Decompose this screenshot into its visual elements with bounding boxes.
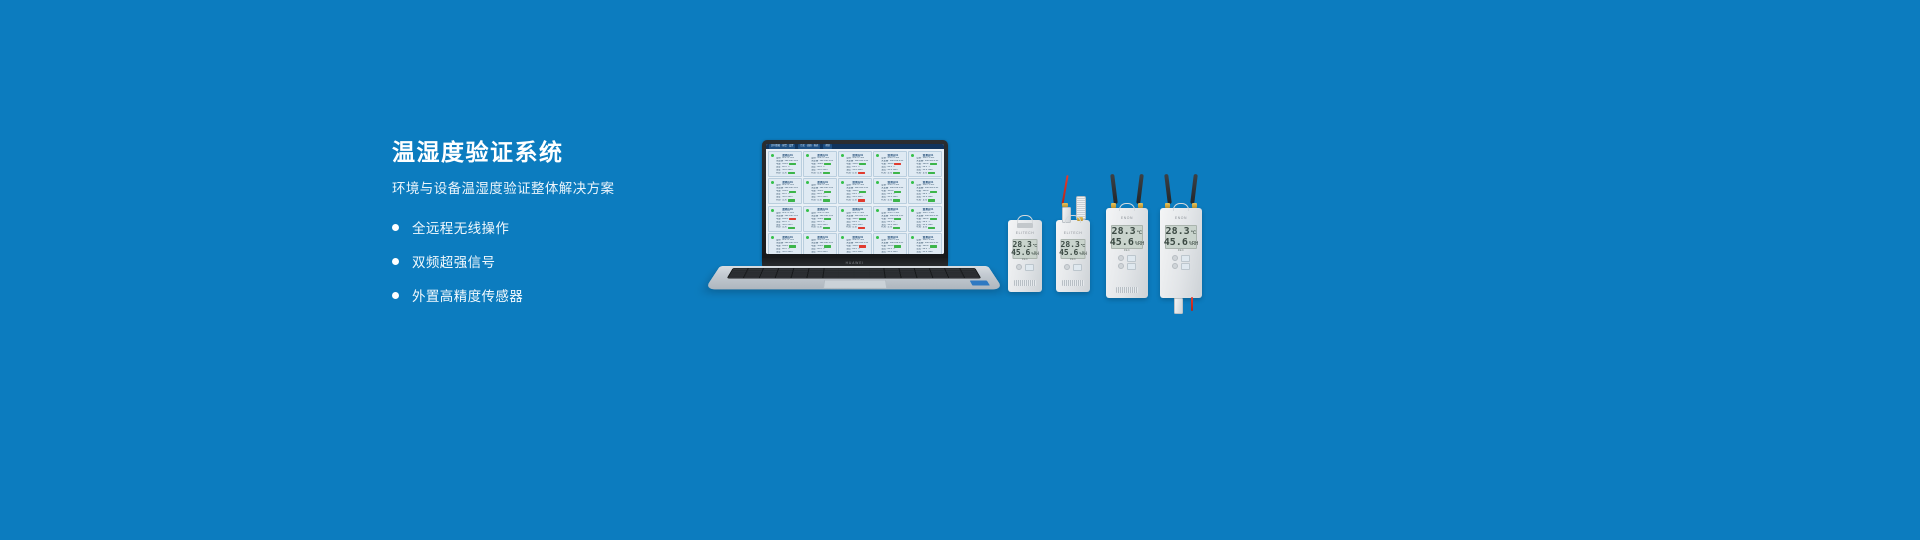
status-indicator-icon	[876, 236, 879, 239]
hanger-loop-icon	[1173, 203, 1189, 211]
monitor-card-row-label: 状态:	[811, 199, 816, 202]
monitor-card[interactable]: 监测点01设备:WS-T1 501采集器:192.168.1.21电量:100%…	[838, 178, 872, 204]
antenna-connector-left-icon	[1165, 203, 1170, 208]
status-indicator-icon	[771, 181, 774, 184]
monitor-card-row: 状态:正常	[846, 226, 869, 229]
monitor-card[interactable]: 监测点01设备:WS-T1 501采集器:192.168.1.21电量:100%…	[873, 233, 907, 254]
monitor-card-row-label: 状态:	[881, 199, 886, 202]
monitor-card-row: 状态:正常	[846, 199, 869, 202]
function-button[interactable]	[1127, 255, 1136, 262]
monitor-card-row-value: 正常	[782, 199, 787, 202]
keyboard-key[interactable]	[886, 276, 901, 277]
feature-list: 全远程无线操作 双频超强信号 外置高精度传感器	[392, 217, 722, 305]
monitor-card-row-value: 正常	[888, 226, 893, 229]
status-indicator-icon	[841, 236, 844, 239]
feature-label: 全远程无线操作	[412, 217, 509, 237]
status-badge	[930, 191, 937, 193]
monitor-card[interactable]: 监测点01设备:WS-T1 501采集器:192.168.1.21电量:100%…	[908, 151, 942, 177]
list-item: 双频超强信号	[392, 251, 722, 271]
menu-button[interactable]	[1118, 263, 1124, 269]
monitor-card[interactable]: 监测点01设备:WS-T1 501采集器:192.168.1.21电量:100%…	[768, 151, 802, 177]
monitor-card-row: 状态:正常	[916, 172, 939, 175]
speaker-grille-icon	[1116, 287, 1138, 293]
list-item: 外置高精度传感器	[392, 285, 722, 305]
monitor-card-row-label: 状态:	[846, 226, 851, 229]
monitor-card[interactable]: 监测点01设备:WS-T1 501采集器:192.168.1.21电量:100%…	[838, 233, 872, 254]
lcd-display: 28.3 ℃ 45.6 %RH REC	[1013, 239, 1038, 259]
keyboard-key[interactable]	[917, 276, 932, 277]
lcd-humidity-value: 45.6	[1164, 238, 1188, 249]
monitor-card-row-value: 正常	[782, 172, 787, 175]
monitor-card-row-value: 正常	[923, 199, 928, 202]
status-indicator-icon	[806, 209, 809, 212]
status-badge	[858, 199, 865, 201]
status-indicator-icon	[876, 209, 879, 212]
status-indicator-icon	[911, 181, 914, 184]
power-button[interactable]	[1118, 255, 1124, 261]
monitor-card[interactable]: 监测点01设备:WS-T1 501采集器:192.168.1.21电量:100%…	[768, 233, 802, 254]
monitor-card-row-value: 正常	[817, 172, 822, 175]
list-item: ELITECH 28.3 ℃ 45.6 %RH REC	[1008, 220, 1042, 292]
monitor-card-row-label: 状态:	[811, 226, 816, 229]
monitor-card[interactable]: 监测点01设备:WS-T1 501采集器:192.168.1.21电量:100%…	[873, 178, 907, 204]
status-indicator-icon	[841, 154, 844, 157]
status-indicator-icon	[876, 154, 879, 157]
status-badge	[858, 227, 865, 229]
monitor-card-row: 状态:正常	[811, 226, 834, 229]
lcd-status-label: REC	[1064, 258, 1083, 261]
bullet-dot-icon	[392, 224, 399, 231]
hanger-loop-icon	[1119, 203, 1135, 211]
monitor-card[interactable]: 监测点01设备:WS-T1 501采集器:192.168.1.21电量:100%…	[908, 206, 942, 232]
laptop-screen: 实时数据 · 报警 · 设置 历史 · 曲线 · 报表 帮助 监测点01设备:W…	[766, 144, 944, 254]
lcd-temperature-unit: ℃	[1033, 244, 1038, 248]
page-subtitle: 环境与设备温湿度验证整体解决方案	[392, 181, 722, 197]
status-indicator-icon	[841, 181, 844, 184]
lcd-temperature-row: 28.3 ℃	[1114, 227, 1140, 238]
lcd-status-label: REC	[1168, 249, 1194, 252]
keyboard-key[interactable]	[948, 276, 964, 277]
laptop-lid: 实时数据 · 报警 · 设置 历史 · 曲线 · 报表 帮助 监测点01设备:W…	[762, 140, 948, 262]
monitor-card-row: 状态:正常	[811, 172, 834, 175]
probe-shaft	[1174, 298, 1183, 314]
monitor-card[interactable]: 监测点01设备:WS-T1 501采集器:192.168.1.21电量:100%…	[873, 206, 907, 232]
status-badge	[859, 191, 866, 193]
lcd-display: 28.3 ℃ 45.6 %RH REC	[1111, 225, 1143, 249]
device-button-row[interactable]	[1008, 264, 1042, 271]
keyboard-key[interactable]	[839, 276, 854, 277]
status-badge	[788, 172, 795, 174]
monitor-card[interactable]: 监测点01设备:WS-T1 501采集器:192.168.1.21电量:100%…	[838, 151, 872, 177]
status-badge	[788, 227, 795, 229]
lcd-status-label: REC	[1016, 258, 1035, 261]
monitor-card[interactable]: 监测点01设备:WS-T1 501采集器:192.168.1.21电量:100%…	[838, 206, 872, 232]
status-badge	[824, 191, 831, 193]
lcd-display: 28.3 ℃ 45.6 %RH REC	[1061, 239, 1086, 259]
lcd-humidity-row: 45.6 %RH	[1064, 249, 1083, 257]
monitor-card[interactable]: 监测点01设备:WS-T1 501采集器:192.168.1.21电量:100%…	[803, 233, 837, 254]
keyboard-key[interactable]	[901, 276, 916, 277]
keyboard-key[interactable]	[964, 276, 980, 277]
status-badge	[894, 245, 901, 247]
lcd-humidity-unit: %RH	[1135, 242, 1144, 247]
monitor-card-row-value: 正常	[817, 199, 822, 202]
laptop-sticker	[970, 281, 990, 286]
enter-button[interactable]	[1127, 263, 1136, 270]
monitor-card[interactable]: 监测点01设备:WS-T1 501采集器:192.168.1.21电量:100%…	[908, 178, 942, 204]
list-item: ELITECH 28.3 ℃ 45.6 %RH REC	[1056, 220, 1090, 292]
lcd-humidity-row: 45.6 %RH	[1016, 249, 1035, 257]
hero-copy-block: 温湿度验证系统 环境与设备温湿度验证整体解决方案 全远程无线操作 双频超强信号 …	[392, 140, 722, 319]
keyboard-key[interactable]	[791, 276, 806, 277]
device-button-row[interactable]	[1160, 263, 1202, 270]
monitor-card-row-label: 状态:	[881, 226, 886, 229]
monitor-card-row-value: 正常	[923, 172, 928, 175]
monitor-card-row-label: 状态:	[776, 226, 781, 229]
monitor-card-row: 状态:正常	[916, 199, 939, 202]
laptop-touchpad[interactable]	[823, 280, 887, 289]
lcd-temperature-unit: ℃	[1137, 231, 1143, 236]
monitor-card-row: 状态:正常	[776, 172, 799, 175]
status-badge	[788, 199, 795, 201]
function-button[interactable]	[1025, 264, 1034, 271]
status-badge	[824, 245, 831, 247]
keyboard-key[interactable]	[854, 276, 869, 277]
status-badge	[789, 218, 796, 220]
laptop-keyboard[interactable]	[727, 268, 982, 279]
menu-button[interactable]	[1172, 263, 1178, 269]
lcd-humidity-unit: %RH	[1189, 242, 1198, 247]
lcd-display: 28.3 ℃ 45.6 %RH REC	[1165, 225, 1197, 249]
status-indicator-icon	[771, 154, 774, 157]
monitor-card-row-value: 正常	[923, 226, 928, 229]
lcd-temperature-value: 28.3	[1166, 227, 1190, 238]
keyboard-key[interactable]	[775, 276, 790, 277]
lcd-status-label: REC	[1114, 249, 1140, 252]
status-indicator-icon	[911, 236, 914, 239]
device-button-row[interactable]	[1160, 255, 1202, 262]
monitor-card[interactable]: 监测点01设备:WS-T1 501采集器:192.168.1.21电量:100%…	[768, 178, 802, 204]
device-button-row[interactable]	[1106, 263, 1148, 270]
keyboard-key[interactable]	[728, 276, 744, 277]
lcd-humidity-row: 45.6 %RH	[1168, 238, 1194, 249]
device-brand-label: ELITECH	[1008, 231, 1042, 235]
probe-cable	[1061, 175, 1068, 205]
monitor-card-row: 状态:正常	[846, 172, 869, 175]
laptop-base	[705, 266, 1004, 289]
page-title: 温湿度验证系统	[392, 140, 722, 165]
monitor-card[interactable]: 监测点01设备:WS-T1 501采集器:192.168.1.21电量:100%…	[908, 233, 942, 254]
monitor-card-row: 状态:正常	[776, 199, 799, 202]
monitor-card-row: 状态:正常	[811, 199, 834, 202]
bullet-dot-icon	[392, 292, 399, 299]
status-badge	[858, 172, 865, 174]
monitor-card[interactable]: 监测点01设备:WS-T1 501采集器:192.168.1.21电量:100%…	[803, 151, 837, 177]
monitor-card[interactable]: 监测点01设备:WS-T1 501采集器:192.168.1.21电量:100%…	[803, 178, 837, 204]
monitor-card[interactable]: 监测点01设备:WS-T1 501采集器:192.168.1.21电量:100%…	[803, 206, 837, 232]
antenna-connector-right-icon	[1138, 203, 1143, 208]
antenna-connector-right-icon	[1192, 203, 1197, 208]
monitor-card-row-label: 状态:	[811, 172, 816, 175]
monitor-card-row-value: 正常	[852, 172, 857, 175]
device-brand-label: ELITECH	[1056, 231, 1090, 235]
lcd-humidity-row: 45.6 %RH	[1114, 238, 1140, 249]
monitor-card-row-label: 状态:	[916, 226, 921, 229]
status-indicator-icon	[806, 154, 809, 157]
status-badge	[928, 172, 935, 174]
monitor-card-row-value: 正常	[782, 226, 787, 229]
status-indicator-icon	[771, 236, 774, 239]
monitor-card-row-value: 正常	[817, 226, 822, 229]
hanger-loop-icon	[1017, 215, 1033, 223]
status-badge	[824, 218, 831, 220]
power-button[interactable]	[1016, 264, 1022, 270]
list-item: 全远程无线操作	[392, 217, 722, 237]
lcd-humidity-unit: %RH	[1031, 252, 1039, 256]
speaker-grille-icon	[1014, 280, 1036, 286]
status-badge	[930, 245, 937, 247]
monitor-card[interactable]: 监测点01设备:WS-T1 501采集器:192.168.1.21电量:100%…	[873, 151, 907, 177]
probe-cable	[1191, 297, 1193, 311]
laptop-illustration: 实时数据 · 报警 · 设置 历史 · 曲线 · 报表 帮助 监测点01设备:W…	[720, 140, 988, 300]
status-indicator-icon	[876, 181, 879, 184]
function-button[interactable]	[1073, 264, 1082, 271]
hanger-loop-icon	[1065, 215, 1081, 223]
device-brand-label: ENON	[1160, 216, 1202, 220]
status-badge	[893, 199, 900, 201]
status-badge	[930, 218, 937, 220]
status-badge	[894, 191, 901, 193]
status-badge	[928, 227, 935, 229]
status-badge	[893, 172, 900, 174]
status-badge	[823, 227, 830, 229]
status-badge	[789, 245, 796, 247]
monitor-card-row-label: 状态:	[881, 172, 886, 175]
status-badge	[859, 245, 866, 247]
lcd-humidity-value: 45.6	[1011, 249, 1030, 257]
feature-label: 外置高精度传感器	[412, 285, 523, 305]
list-item: ENON 28.3 ℃ 45.6 %RH REC	[1106, 208, 1148, 298]
power-button[interactable]	[1064, 264, 1070, 270]
status-indicator-icon	[841, 209, 844, 212]
status-badge	[823, 199, 830, 201]
lcd-temperature-unit: ℃	[1191, 231, 1197, 236]
monitor-card-row-label: 状态:	[846, 172, 851, 175]
speaker-grille-icon	[1062, 280, 1084, 286]
keyboard-key[interactable]	[933, 276, 948, 277]
hero-banner: 温湿度验证系统 环境与设备温湿度验证整体解决方案 全远程无线操作 双频超强信号 …	[0, 0, 1920, 540]
device-button-row[interactable]	[1106, 255, 1148, 262]
enter-button[interactable]	[1181, 263, 1190, 270]
monitor-card-row-value: 正常	[852, 199, 857, 202]
monitor-card-row-label: 状态:	[916, 199, 921, 202]
monitor-card-row-label: 状态:	[916, 172, 921, 175]
keyboard-key[interactable]	[870, 276, 885, 277]
status-indicator-icon	[806, 181, 809, 184]
feature-label: 双频超强信号	[412, 251, 495, 271]
list-item: ENON 28.3 ℃ 45.6 %RH REC	[1160, 208, 1202, 298]
monitor-card[interactable]: 监测点01设备:WS-T1 501采集器:192.168.1.21电量:100%…	[768, 206, 802, 232]
status-indicator-icon	[771, 209, 774, 212]
status-badge	[823, 172, 830, 174]
status-badge	[894, 218, 901, 220]
status-indicator-icon	[806, 236, 809, 239]
monitor-card-row-value: 正常	[888, 172, 893, 175]
lcd-humidity-value: 45.6	[1059, 249, 1078, 257]
monitor-card-row-label: 状态:	[776, 199, 781, 202]
monitor-card-row: 状态:正常	[776, 226, 799, 229]
function-button[interactable]	[1181, 255, 1190, 262]
status-badge	[928, 199, 935, 201]
monitor-card-row-value: 正常	[888, 199, 893, 202]
lcd-temperature-row: 28.3 ℃	[1168, 227, 1194, 238]
lcd-temperature-unit: ℃	[1081, 244, 1086, 248]
monitor-grid: 监测点01设备:WS-T1 501采集器:192.168.1.21电量:100%…	[766, 149, 944, 254]
keyboard-key[interactable]	[744, 276, 760, 277]
status-badge	[789, 191, 796, 193]
keyboard-key[interactable]	[760, 276, 775, 277]
sensor-devices-group: ELITECH 28.3 ℃ 45.6 %RH REC	[1000, 190, 1220, 310]
monitor-card-row: 状态:正常	[881, 172, 904, 175]
antenna-left-icon	[1110, 174, 1118, 204]
lcd-temperature-value: 28.3	[1112, 227, 1136, 238]
monitor-card-row-value: 正常	[852, 226, 857, 229]
lcd-humidity-unit: %RH	[1079, 252, 1087, 256]
device-brand-label: ENON	[1106, 216, 1148, 220]
status-indicator-icon	[911, 154, 914, 157]
power-button[interactable]	[1172, 255, 1178, 261]
lcd-humidity-value: 45.6	[1110, 238, 1134, 249]
bullet-dot-icon	[392, 258, 399, 265]
monitor-card-row: 状态:正常	[916, 226, 939, 229]
antenna-left-icon	[1164, 174, 1172, 204]
monitor-card-row-label: 状态:	[846, 199, 851, 202]
status-badge	[893, 227, 900, 229]
keyboard-key[interactable]	[807, 276, 822, 277]
keyboard-row	[728, 276, 980, 277]
antenna-right-icon	[1190, 174, 1198, 204]
antenna-right-icon	[1136, 174, 1144, 204]
status-badge	[859, 218, 866, 220]
vent-grille-icon	[1017, 223, 1033, 228]
monitor-card-row-label: 状态:	[776, 172, 781, 175]
status-indicator-icon	[911, 209, 914, 212]
keyboard-key[interactable]	[823, 276, 838, 277]
monitor-card-row: 状态:正常	[881, 199, 904, 202]
antenna-connector-left-icon	[1111, 203, 1116, 208]
monitor-card-row: 状态:正常	[881, 226, 904, 229]
device-button-row[interactable]	[1056, 264, 1090, 271]
